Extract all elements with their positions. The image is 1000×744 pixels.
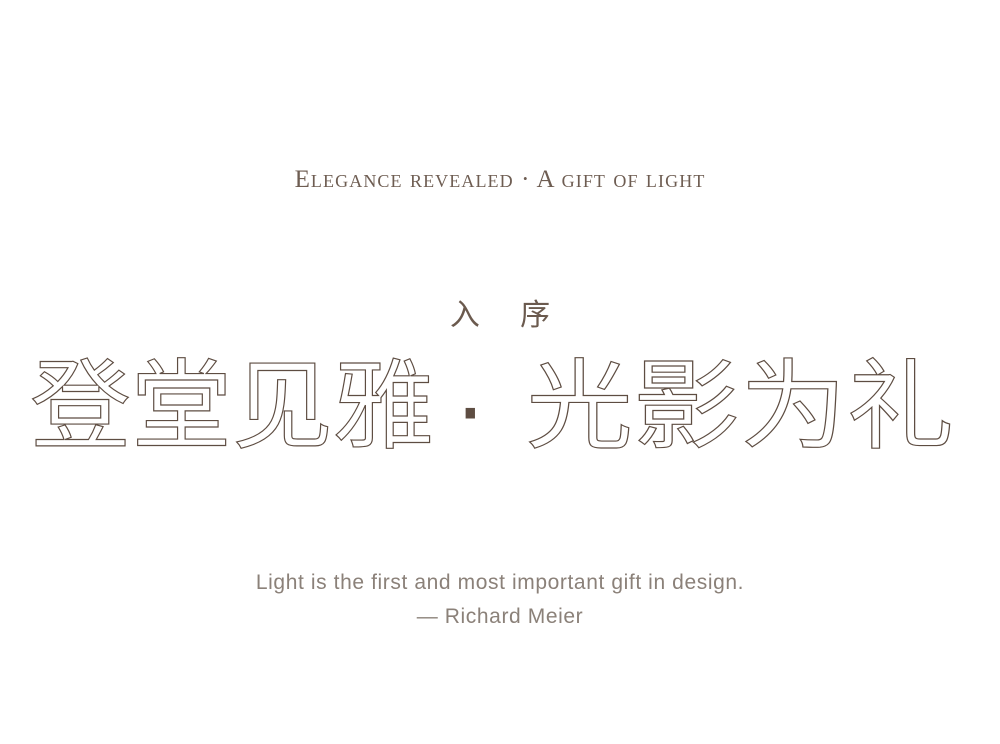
quote-text: Light is the first and most important gi… (0, 566, 1000, 600)
section-label: 入 序 (0, 296, 1000, 336)
poster-canvas: Elegance revealed · A gift of light 入 序 … (0, 0, 1000, 744)
main-title: 登堂见雅 · 光影为礼 登堂见雅·光影为礼 (0, 340, 1000, 468)
main-title-right-phrase: 光影为礼 (526, 351, 954, 461)
main-title-artwork: 登堂见雅 · 光影为礼 (30, 340, 970, 468)
eyebrow-headline: Elegance revealed · A gift of light (0, 163, 1000, 197)
main-title-left-phrase: 登堂见雅 (30, 351, 434, 461)
main-title-separator-dot-icon: · (454, 351, 487, 461)
quote-attribution: — Richard Meier (0, 600, 1000, 634)
